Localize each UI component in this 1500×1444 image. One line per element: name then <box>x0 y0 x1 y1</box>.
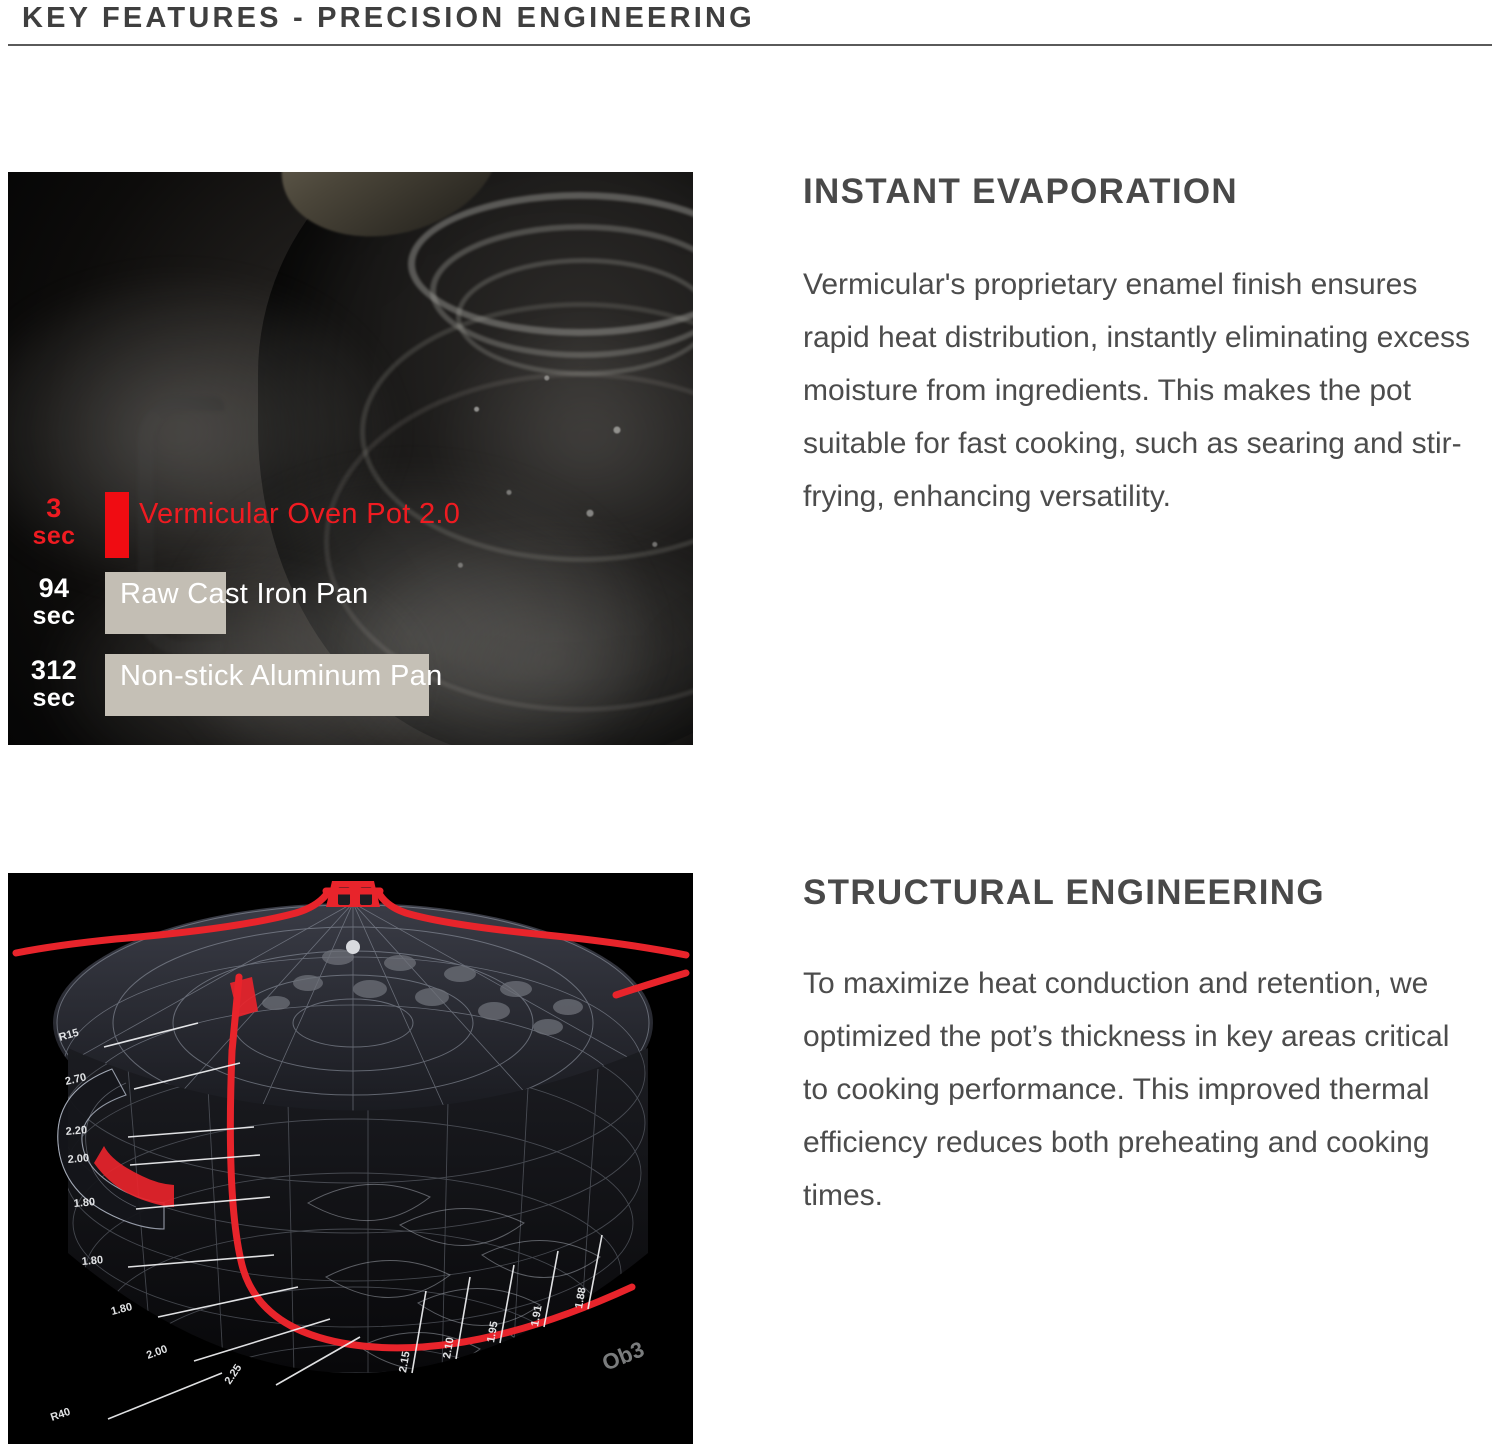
chart-value-number: 312 <box>31 655 77 685</box>
chart-row: 3 sec Vermicular Oven Pot 2.0 <box>8 490 693 564</box>
svg-text:Ob3: Ob3 <box>599 1336 648 1375</box>
chart-value: 3 sec <box>8 494 100 550</box>
chart-value-unit: sec <box>8 523 100 550</box>
page-title: KEY FEATURES - PRECISION ENGINEERING <box>22 2 755 35</box>
evaporation-text-column: INSTANT EVAPORATION Vermicular's proprie… <box>803 172 1475 523</box>
page-header: KEY FEATURES - PRECISION ENGINEERING <box>0 0 1500 50</box>
feature-body: Vermicular's proprietary enamel finish e… <box>803 258 1475 523</box>
svg-text:2.00: 2.00 <box>145 1343 169 1362</box>
cad-wireframe-svg: R15 2.70 2.20 2.00 1.80 1.80 1.80 2.00 2… <box>8 873 693 1444</box>
feature-body: To maximize heat conduction and retentio… <box>803 957 1475 1222</box>
chart-value: 312 sec <box>8 656 100 712</box>
feature-heading: STRUCTURAL ENGINEERING <box>803 873 1475 913</box>
chart-value-unit: sec <box>8 685 100 712</box>
svg-text:R40: R40 <box>49 1406 72 1424</box>
structural-text-column: STRUCTURAL ENGINEERING To maximize heat … <box>803 873 1475 1222</box>
svg-text:1.80: 1.80 <box>73 1196 95 1210</box>
chart-value-number: 94 <box>39 573 70 603</box>
svg-text:2.25: 2.25 <box>223 1362 245 1386</box>
chart-category-label: Raw Cast Iron Pan <box>120 578 369 611</box>
cad-wireframe-render: R15 2.70 2.20 2.00 1.80 1.80 1.80 2.00 2… <box>8 873 693 1444</box>
header-divider <box>8 44 1492 46</box>
chart-value-number: 3 <box>46 493 61 523</box>
evaporation-bar-chart: 3 sec Vermicular Oven Pot 2.0 94 sec Raw… <box>8 490 693 738</box>
svg-text:1.80: 1.80 <box>81 1254 103 1268</box>
chart-row: 94 sec Raw Cast Iron Pan <box>8 572 693 646</box>
svg-text:2.00: 2.00 <box>67 1152 89 1166</box>
chart-category-label: Non-stick Aluminum Pan <box>120 660 443 693</box>
feature-heading: INSTANT EVAPORATION <box>803 172 1475 212</box>
chart-value: 94 sec <box>8 574 100 630</box>
chart-bar <box>105 492 129 558</box>
svg-text:1.80: 1.80 <box>110 1301 134 1318</box>
chart-value-unit: sec <box>8 603 100 630</box>
chart-row: 312 sec Non-stick Aluminum Pan <box>8 654 693 728</box>
evaporation-photo: 3 sec Vermicular Oven Pot 2.0 94 sec Raw… <box>8 172 693 745</box>
chart-category-label: Vermicular Oven Pot 2.0 <box>139 498 460 531</box>
svg-text:2.15: 2.15 <box>397 1350 413 1373</box>
svg-text:2.20: 2.20 <box>65 1124 87 1138</box>
